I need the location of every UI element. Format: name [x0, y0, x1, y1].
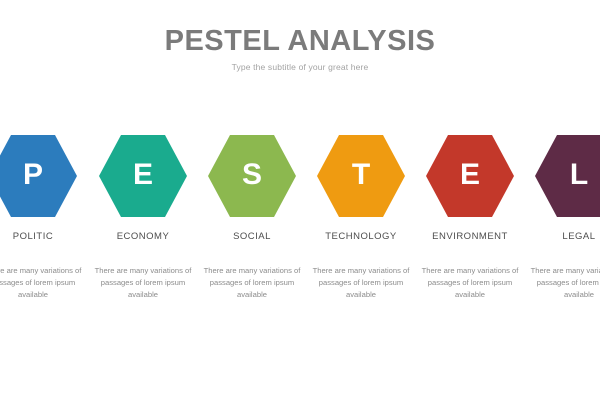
column-body-text: There are many variations of passages of… — [513, 265, 600, 300]
page-subtitle: Type the subtitle of your great here — [0, 62, 600, 73]
hexagon-technology[interactable]: T — [317, 135, 405, 217]
hexagon-band: PESTEL — [0, 135, 600, 217]
hexagon-letter: S — [208, 135, 296, 217]
hexagon-environment[interactable]: E — [426, 135, 514, 217]
hexagon-letter: E — [99, 135, 187, 217]
hexagon-politic[interactable]: P — [0, 135, 77, 217]
hexagon-letter: T — [317, 135, 405, 217]
category-columns: POLITICThere are many variations of pass… — [0, 231, 600, 331]
hexagon-economy[interactable]: E — [99, 135, 187, 217]
column-legal: LEGALThere are many variations of passag… — [513, 231, 600, 300]
hexagon-letter: L — [535, 135, 600, 217]
hexagon-legal[interactable]: L — [535, 135, 600, 217]
slide-header: PESTEL ANALYSIS Type the subtitle of you… — [0, 24, 600, 73]
hexagon-letter: P — [0, 135, 77, 217]
hexagon-letter: E — [426, 135, 514, 217]
page-title: PESTEL ANALYSIS — [0, 24, 600, 58]
column-label: LEGAL — [513, 231, 600, 243]
hexagon-social[interactable]: S — [208, 135, 296, 217]
pestel-analysis-slide: PESTEL ANALYSIS Type the subtitle of you… — [0, 0, 600, 400]
